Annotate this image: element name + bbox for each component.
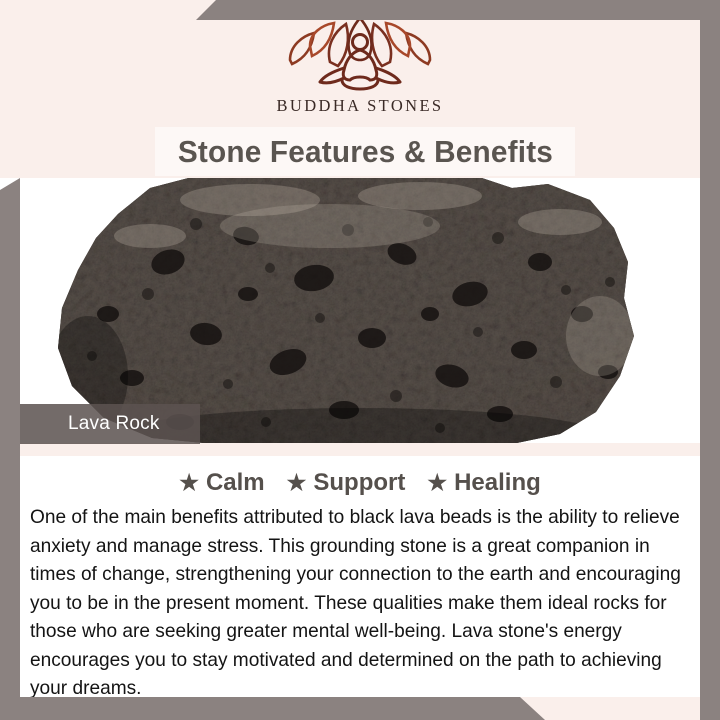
card-content: ★ Calm ★ Support ★ Healing One of the ma… xyxy=(0,456,720,697)
feature-item: ★ Healing xyxy=(427,469,540,497)
stone-features-card: Lava Rock xyxy=(0,0,720,720)
star-icon: ★ xyxy=(287,472,307,494)
star-icon: ★ xyxy=(427,472,447,494)
frame-left-bar xyxy=(0,178,20,720)
stone-label: Lava Rock xyxy=(20,404,200,444)
brand-logo: BUDDHA STONES xyxy=(0,16,720,116)
brand-name: BUDDHA STONES xyxy=(0,96,720,116)
lava-rock-photo xyxy=(0,166,720,444)
feature-item: ★ Support xyxy=(287,469,406,497)
feature-item: ★ Calm xyxy=(179,469,264,497)
frame-right-bar xyxy=(700,0,720,720)
feature-label: Healing xyxy=(454,469,541,497)
lava-rock-illustration xyxy=(0,166,720,444)
feature-label: Calm xyxy=(206,469,265,497)
feature-list: ★ Calm ★ Support ★ Healing xyxy=(0,456,720,497)
accent-strip xyxy=(0,443,720,456)
title-banner: Stone Features & Benefits xyxy=(155,127,575,176)
feature-label: Support xyxy=(313,469,405,497)
page-title: Stone Features & Benefits xyxy=(177,134,552,170)
stone-label-text: Lava Rock xyxy=(20,413,160,435)
lotus-meditation-icon xyxy=(280,16,440,92)
description-text: One of the main benefits attributed to b… xyxy=(30,503,685,703)
star-icon: ★ xyxy=(179,472,199,494)
